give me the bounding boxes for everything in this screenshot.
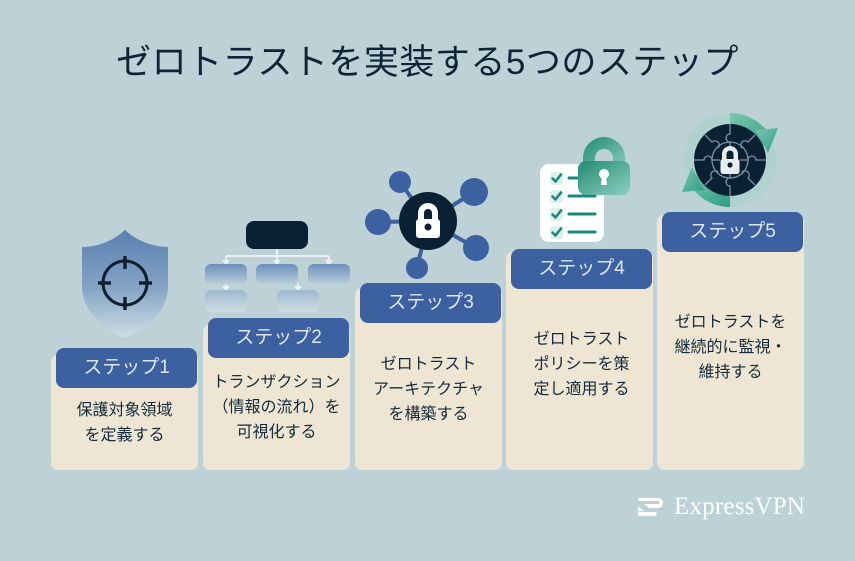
step-text-5: ゼロトラストを 継続的に監視・ 維持する — [660, 310, 801, 385]
shield-target-icon — [76, 228, 174, 340]
step-text-1: 保護対象領域 を定義する — [53, 398, 196, 448]
step-text-3: ゼロトラスト アーキテクチャ を構築する — [357, 352, 500, 427]
step-badge-3: ステップ3 — [360, 283, 501, 323]
checklist-lock-icon — [528, 126, 646, 248]
page-title: ゼロトラストを実装する5つのステップ — [0, 34, 855, 85]
step-badge-5: ステップ5 — [662, 212, 803, 252]
step-badge-1: ステップ1 — [56, 348, 197, 388]
expressvpn-logo: ExpressVPN — [634, 492, 805, 522]
expressvpn-wordmark: ExpressVPN — [674, 493, 805, 521]
step-text-2: トランザクション （情報の流れ）を 可視化する — [203, 370, 350, 445]
step-text-4: ゼロトラスト ポリシーを策 定し適用する — [513, 327, 650, 402]
expressvpn-mark-icon — [634, 492, 664, 522]
step-badge-4: ステップ4 — [511, 249, 652, 289]
infographic-canvas: ゼロトラストを実装する5つのステップ — [0, 0, 855, 561]
refresh-lock-icon — [672, 104, 788, 216]
step-badge-2: ステップ2 — [208, 318, 349, 358]
flowchart-icon — [198, 218, 356, 318]
network-lock-icon — [362, 160, 494, 282]
